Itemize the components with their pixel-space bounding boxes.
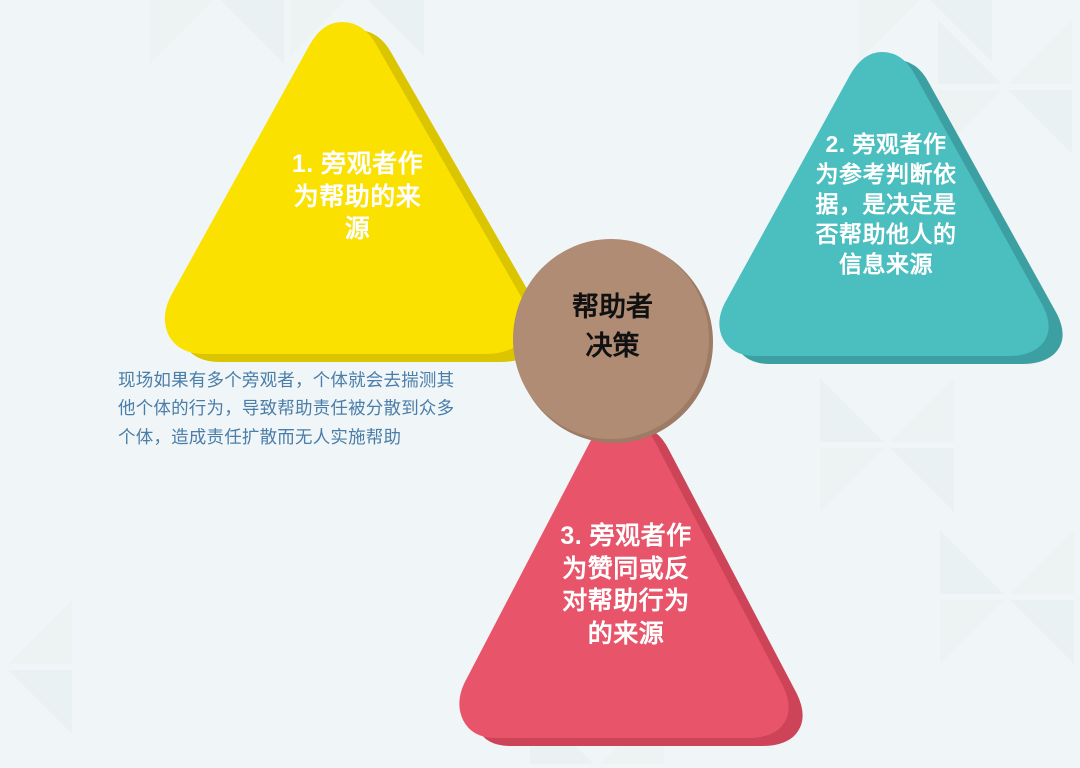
node-1-label: 1. 旁观者作 为帮助的来 源: [260, 148, 455, 246]
caption-text: 现场如果有多个旁观者，个体就会去揣测其他个体的行为，导致帮助责任被分散到众多个体…: [118, 366, 468, 451]
center-node-helper-decision[interactable]: 帮助者 决策: [510, 238, 715, 443]
node-3-label: 3. 旁观者作 为赞同或反 对帮助行为 的来源: [526, 520, 726, 650]
diagram-canvas: 1. 旁观者作 为帮助的来 源 2. 旁观者作 为参考判断依 据，是决定是 否帮…: [0, 0, 1080, 768]
node-2-label: 2. 旁观者作 为参考判断依 据，是决定是 否帮助他人的 信息来源: [786, 130, 986, 279]
node-bystander-as-approval-source[interactable]: 3. 旁观者作 为赞同或反 对帮助行为 的来源: [440, 400, 812, 760]
center-node-label: 帮助者 决策: [510, 288, 715, 366]
node-bystander-as-source-of-help[interactable]: 1. 旁观者作 为帮助的来 源: [152, 8, 552, 370]
node-bystander-as-reference-judgement[interactable]: 2. 旁观者作 为参考判断依 据，是决定是 否帮助他人的 信息来源: [700, 38, 1072, 378]
